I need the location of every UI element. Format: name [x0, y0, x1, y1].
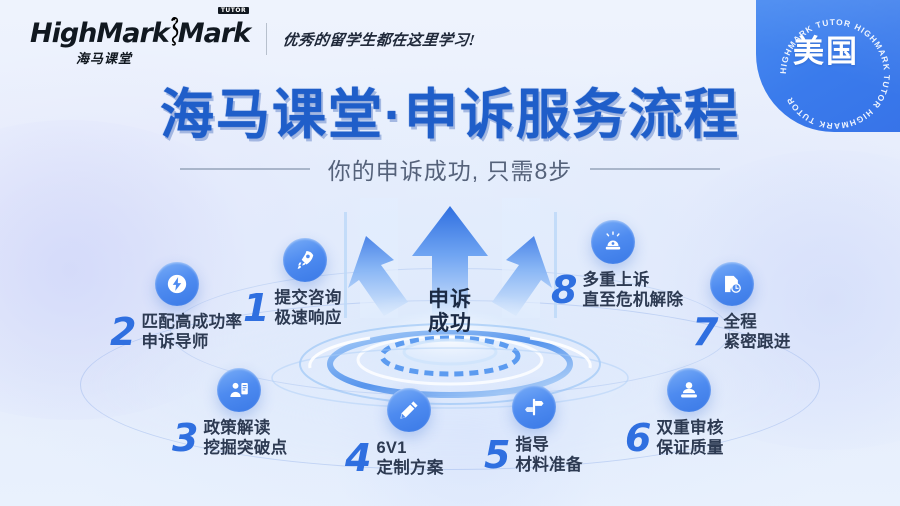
subtitle-rule-left: [180, 168, 310, 170]
document-clock-icon: [710, 262, 754, 306]
signpost-icon: [512, 385, 556, 429]
brand-header: HighMark Mark TUTOR 海马课堂 优秀的留学生都在这里学习!: [30, 12, 475, 67]
step-8-number: 8: [551, 273, 577, 307]
step-4-number: 4: [345, 441, 371, 475]
step-5-number: 5: [484, 438, 510, 472]
step-item-1[interactable]: 1 提交咨询 极速响应: [243, 238, 342, 328]
step-6-line2: 保证质量: [656, 439, 723, 457]
step-7-label: 全程 紧密跟进: [723, 312, 790, 352]
step-item-3[interactable]: 3 政策解读 挖掘突破点: [172, 368, 287, 458]
step-5-line1: 指导: [515, 436, 549, 454]
logo-chinese-name: 海马课堂: [76, 48, 132, 67]
step-item-8[interactable]: 8 多重上诉 直至危机解除: [551, 220, 683, 310]
step-4-line2: 定制方案: [376, 459, 443, 477]
step-item-6[interactable]: 6 双重审核 保证质量: [625, 368, 724, 458]
hero-core-line1: 申诉: [428, 288, 472, 312]
lightning-bolt-icon: [155, 262, 199, 306]
step-7-body: 7 全程 紧密跟进: [692, 312, 791, 352]
step-1-line2: 极速响应: [274, 309, 341, 327]
step-3-body: 3 政策解读 挖掘突破点: [172, 418, 287, 458]
step-3-line1: 政策解读: [203, 419, 270, 437]
badge-ring-text: HIGHMARK TUTOR HIGHMARK TUTOR HIGHMARK T…: [778, 17, 892, 131]
seahorse-icon: [167, 16, 180, 46]
step-2-number: 2: [110, 315, 136, 349]
step-7-line1: 全程: [723, 313, 757, 331]
step-8-line1: 多重上诉: [582, 271, 649, 289]
step-2-label: 匹配高成功率 申诉导师: [141, 312, 242, 352]
header-divider: [266, 23, 267, 55]
step-3-label: 政策解读 挖掘突破点: [203, 418, 287, 458]
pen-edit-icon: [387, 388, 431, 432]
step-8-line2: 直至危机解除: [582, 291, 683, 309]
step-6-body: 6 双重审核 保证质量: [625, 418, 724, 458]
step-item-2[interactable]: 2 匹配高成功率 申诉导师: [110, 262, 242, 352]
hero-core-label: 申诉 成功: [428, 288, 472, 335]
infographic-poster: HighMark Mark TUTOR 海马课堂 优秀的留学生都在这里学习!: [0, 0, 900, 506]
hero-core-line2: 成功: [428, 312, 472, 336]
step-item-7[interactable]: 7 全程 紧密跟进: [692, 262, 791, 352]
step-4-body: 4 6V1 定制方案: [345, 438, 444, 478]
step-4-label: 6V1 定制方案: [376, 438, 443, 478]
step-5-label: 指导 材料准备: [515, 435, 582, 475]
badge-country-label: 美国: [756, 26, 896, 71]
step-5-body: 5 指导 材料准备: [484, 435, 583, 475]
step-2-line1: 匹配高成功率: [141, 313, 242, 331]
country-badge: HIGHMARK TUTOR HIGHMARK TUTOR HIGHMARK T…: [756, 0, 900, 132]
step-8-label: 多重上诉 直至危机解除: [582, 270, 683, 310]
subtitle-rule-right: [590, 168, 720, 170]
step-2-line2: 申诉导师: [141, 333, 208, 351]
subtitle-row: 你的申诉成功, 只需8步: [0, 152, 900, 186]
person-document-icon: [217, 368, 261, 412]
step-5-line2: 材料准备: [515, 456, 582, 474]
step-1-line1: 提交咨询: [274, 289, 341, 307]
alarm-siren-icon: [591, 220, 635, 264]
step-1-label: 提交咨询 极速响应: [274, 288, 341, 328]
stamp-seal-icon: [667, 368, 711, 412]
svg-text:HIGHMARK TUTOR HIGHMARK TUTO: HIGHMARK TUTOR HIGHMARK TUTOR HIGHMARK T…: [778, 17, 892, 131]
step-item-4[interactable]: 4 6V1 定制方案: [345, 388, 444, 478]
step-4-line1: 6V1: [376, 439, 406, 457]
step-3-line2: 挖掘突破点: [203, 439, 287, 457]
step-6-line1: 双重审核: [656, 419, 723, 437]
step-1-number: 1: [243, 291, 269, 325]
step-6-label: 双重审核 保证质量: [656, 418, 723, 458]
step-6-number: 6: [625, 421, 651, 455]
logo-tutor-badge: TUTOR: [218, 7, 249, 14]
logo-text-high: HighMark: [30, 20, 169, 47]
logo[interactable]: HighMark Mark TUTOR 海马课堂: [30, 12, 250, 67]
step-3-number: 3: [172, 421, 198, 455]
logo-wordmark: HighMark Mark TUTOR: [30, 12, 250, 47]
logo-text-mark: Mark: [178, 20, 250, 47]
step-8-body: 8 多重上诉 直至危机解除: [551, 270, 683, 310]
header-tagline: 优秀的留学生都在这里学习!: [282, 29, 477, 50]
step-1-body: 1 提交咨询 极速响应: [243, 288, 342, 328]
page-subtitle: 你的申诉成功, 只需8步: [328, 152, 573, 186]
step-7-line2: 紧密跟进: [723, 333, 790, 351]
step-2-body: 2 匹配高成功率 申诉导师: [110, 312, 242, 352]
rocket-icon: [283, 238, 327, 282]
badge-circular-text: HIGHMARK TUTOR HIGHMARK TUTOR HIGHMARK T…: [756, 0, 900, 132]
step-item-5[interactable]: 5 指导 材料准备: [484, 385, 583, 475]
step-7-number: 7: [692, 315, 718, 349]
